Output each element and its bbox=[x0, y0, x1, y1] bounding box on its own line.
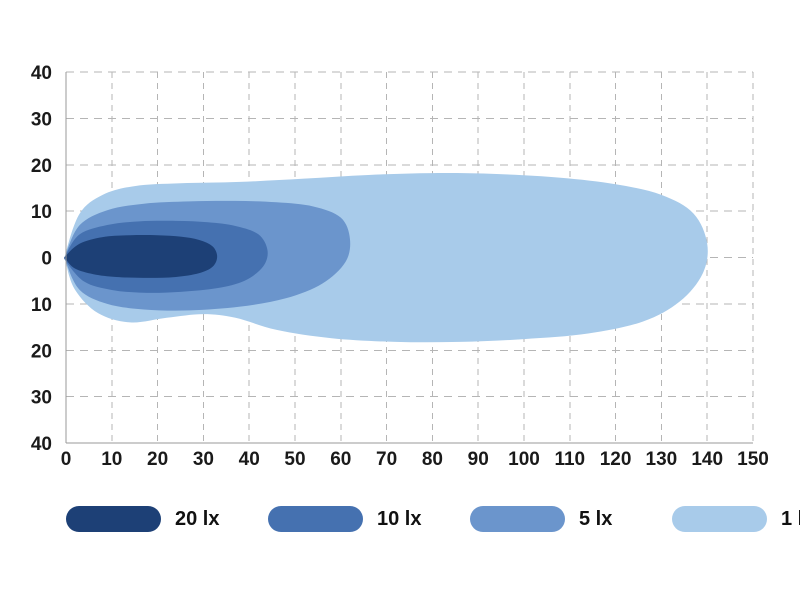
x-tick-label: 100 bbox=[508, 449, 540, 470]
x-tick-label: 120 bbox=[600, 449, 632, 470]
legend-label: 10 lx bbox=[377, 508, 421, 530]
legend-swatch bbox=[66, 506, 161, 532]
beam-contour-20-lx bbox=[65, 235, 218, 278]
x-tick-label: 60 bbox=[330, 449, 351, 470]
x-tick-label: 110 bbox=[554, 449, 585, 470]
legend-label: 20 lx bbox=[175, 508, 219, 530]
x-tick-label: 0 bbox=[61, 449, 72, 470]
chart-canvas: 0102030405060708090100110120130140150 40… bbox=[0, 0, 800, 600]
y-tick-label: 30 bbox=[31, 388, 52, 409]
y-tick-label: 40 bbox=[31, 63, 52, 84]
legend-item-1-lx[interactable]: 1 lx bbox=[672, 506, 800, 532]
y-tick-label: 40 bbox=[31, 434, 52, 455]
x-tick-label: 70 bbox=[376, 449, 397, 470]
x-tick-label: 50 bbox=[284, 449, 305, 470]
legend-label: 1 lx bbox=[781, 508, 800, 530]
beam-contours bbox=[64, 173, 708, 342]
x-tick-label: 80 bbox=[422, 449, 443, 470]
legend-item-10-lx[interactable]: 10 lx bbox=[268, 506, 421, 532]
y-tick-label: 0 bbox=[41, 249, 52, 270]
y-tick-label: 20 bbox=[31, 341, 52, 362]
y-tick-label: 20 bbox=[31, 156, 52, 177]
x-tick-label: 130 bbox=[646, 449, 678, 470]
legend-swatch bbox=[268, 506, 363, 532]
legend-swatch bbox=[672, 506, 767, 532]
x-tick-label: 140 bbox=[691, 449, 723, 470]
x-tick-label: 150 bbox=[737, 449, 769, 470]
y-tick-label: 10 bbox=[31, 295, 52, 316]
x-tick-label: 30 bbox=[193, 449, 214, 470]
x-tick-label: 40 bbox=[239, 449, 260, 470]
y-tick-label: 10 bbox=[31, 202, 52, 223]
x-tick-label: 10 bbox=[101, 449, 122, 470]
legend-label: 5 lx bbox=[579, 508, 612, 530]
x-tick-label: 20 bbox=[147, 449, 168, 470]
legend-item-5-lx[interactable]: 5 lx bbox=[470, 506, 612, 532]
x-tick-label: 90 bbox=[468, 449, 489, 470]
y-tick-label: 30 bbox=[31, 109, 52, 130]
legend-swatch bbox=[470, 506, 565, 532]
legend-item-20-lx[interactable]: 20 lx bbox=[66, 506, 219, 532]
beam-pattern-chart: 0102030405060708090100110120130140150 40… bbox=[0, 0, 800, 600]
